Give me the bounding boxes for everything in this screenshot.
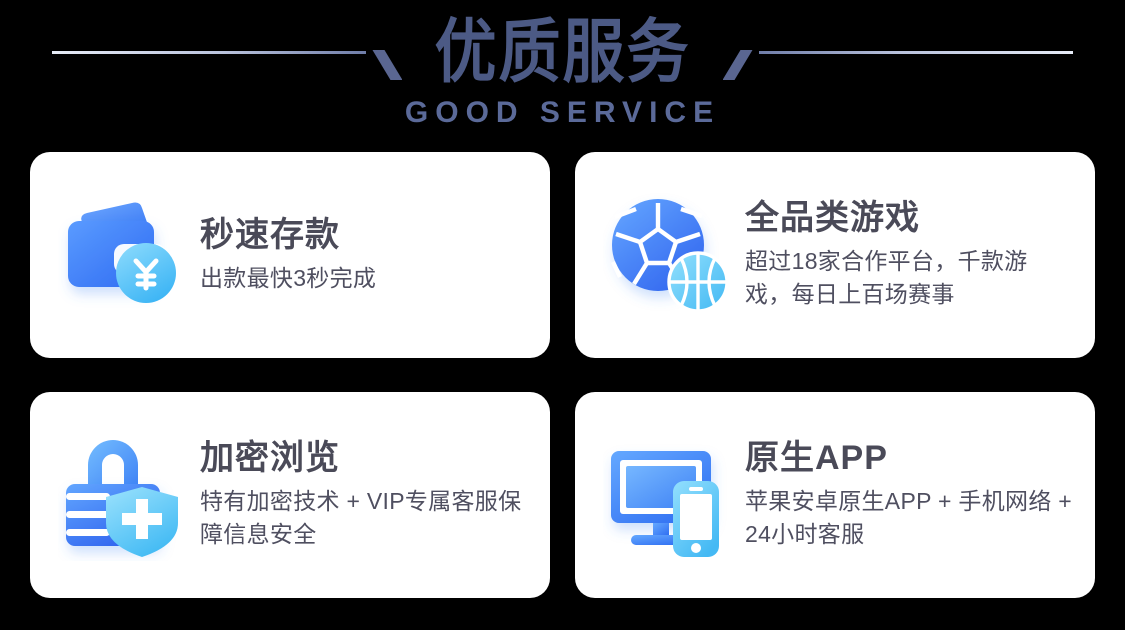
page-subtitle: GOOD SERVICE bbox=[0, 96, 1125, 130]
decorative-bar-left bbox=[52, 51, 366, 54]
feature-card-grid: 秒速存款 出款最快3秒完成 bbox=[30, 152, 1095, 598]
card-text: 秒速存款 出款最快3秒完成 bbox=[200, 216, 528, 295]
feature-card-native-app[interactable]: 原生APP 苹果安卓原生APP + 手机网络 + 24小时客服 bbox=[575, 392, 1095, 598]
promo-banner: 优质服务 GOOD SERVICE bbox=[0, 0, 1125, 630]
header: 优质服务 GOOD SERVICE bbox=[0, 0, 1125, 145]
card-title: 加密浏览 bbox=[200, 439, 528, 477]
card-text: 原生APP 苹果安卓原生APP + 手机网络 + 24小时客服 bbox=[745, 439, 1073, 550]
card-text: 全品类游戏 超过18家合作平台，千款游戏，每日上百场赛事 bbox=[745, 199, 1073, 310]
card-subtitle: 出款最快3秒完成 bbox=[200, 262, 528, 295]
decorative-line-left bbox=[38, 23, 418, 83]
monitor-phone-icon bbox=[603, 429, 735, 561]
header-title-row: 优质服务 bbox=[0, 14, 1125, 92]
decorative-slash-left bbox=[372, 50, 402, 80]
feature-card-games[interactable]: 全品类游戏 超过18家合作平台，千款游戏，每日上百场赛事 bbox=[575, 152, 1095, 358]
decorative-bar-right bbox=[759, 51, 1073, 54]
feature-card-encryption[interactable]: 加密浏览 特有加密技术 + VIP专属客服保障信息安全 bbox=[30, 392, 550, 598]
card-subtitle: 特有加密技术 + VIP专属客服保障信息安全 bbox=[200, 485, 528, 550]
decorative-line-right bbox=[707, 23, 1087, 83]
decorative-slash-right bbox=[723, 50, 753, 80]
card-title: 全品类游戏 bbox=[745, 199, 1073, 237]
wallet-yen-icon bbox=[58, 189, 190, 321]
page-title: 优质服务 bbox=[418, 18, 706, 87]
card-title: 原生APP bbox=[745, 439, 1073, 477]
card-subtitle: 苹果安卓原生APP + 手机网络 + 24小时客服 bbox=[745, 485, 1073, 550]
card-text: 加密浏览 特有加密技术 + VIP专属客服保障信息安全 bbox=[200, 439, 528, 550]
card-title: 秒速存款 bbox=[200, 216, 528, 254]
card-subtitle: 超过18家合作平台，千款游戏，每日上百场赛事 bbox=[745, 245, 1073, 310]
soccer-basketball-icon bbox=[603, 189, 735, 321]
lock-shield-icon bbox=[58, 429, 190, 561]
feature-card-deposit[interactable]: 秒速存款 出款最快3秒完成 bbox=[30, 152, 550, 358]
